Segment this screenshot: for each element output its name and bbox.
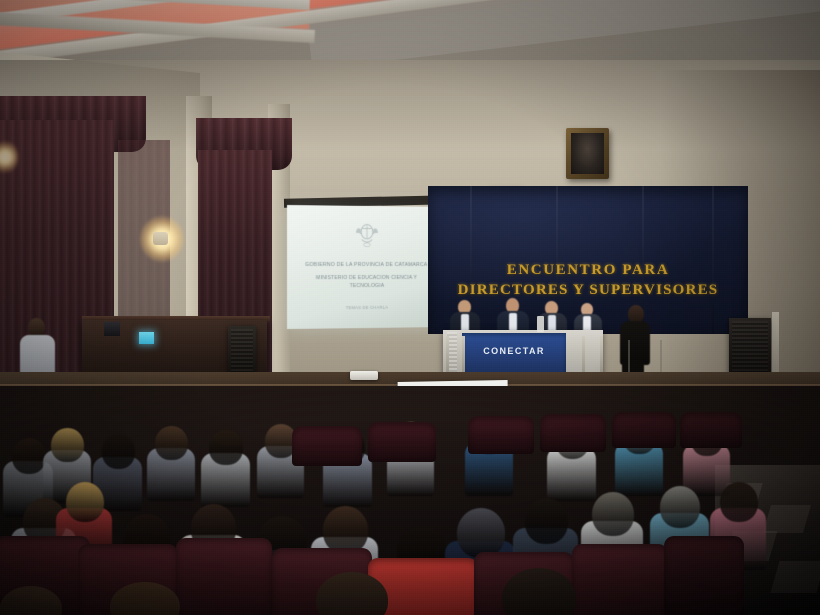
sconce-body xyxy=(153,232,168,245)
audience-person-head xyxy=(155,426,187,460)
audience-person-head xyxy=(66,482,104,522)
audience-person-head xyxy=(102,434,135,469)
seat-near-7 xyxy=(572,544,668,615)
audience-person-head xyxy=(457,508,505,558)
audience-person-head xyxy=(660,486,700,528)
audience-person-head xyxy=(51,428,83,462)
conference-hall-photo: GOBIERNO DE LA PROVINCIA DE CATAMARCA MI… xyxy=(0,0,820,615)
audience-person-head xyxy=(209,430,242,465)
laptop-screen xyxy=(139,332,154,344)
monitor xyxy=(104,322,120,336)
audience-area xyxy=(0,386,820,615)
seat-far-4 xyxy=(540,414,606,452)
audience-person-head xyxy=(12,438,46,474)
conectar-logo-text: CONECTAR xyxy=(462,346,566,356)
banner-line-2: DIRECTORES Y SUPERVISORES xyxy=(428,282,748,299)
audience-person-head xyxy=(323,506,369,554)
audience-person-head xyxy=(592,492,634,536)
seat-near-8 xyxy=(664,536,744,615)
seat-far-2 xyxy=(368,422,436,462)
audience-person-head xyxy=(525,498,569,544)
slide-line-2: MINISTERIO DE EDUCACION CIENCIA Y TECNOL… xyxy=(306,275,426,290)
seat-far-5 xyxy=(612,412,676,448)
projection-screen-surface: GOBIERNO DE LA PROVINCIA DE CATAMARCA MI… xyxy=(287,205,444,329)
wall-portrait-canvas xyxy=(571,133,604,174)
panelist-2-shirt xyxy=(509,313,517,331)
audience-person-head xyxy=(720,482,758,522)
seat-far-3 xyxy=(468,416,534,454)
banner-line-1: ENCUENTRO PARA xyxy=(428,262,748,279)
seat-far-6 xyxy=(680,412,742,448)
slide-line-1: GOBIERNO DE LA PROVINCIA DE CATAMARCA xyxy=(305,262,427,268)
wall-portrait-frame xyxy=(566,128,609,179)
seat-far-1 xyxy=(292,426,362,466)
provincial-coat-of-arms-icon xyxy=(354,220,380,250)
panel-table-banner: CONECTAR xyxy=(462,333,566,375)
projector xyxy=(350,371,378,380)
slide-line-3: TEMAS DE CHARLA xyxy=(287,304,444,310)
seat-near-3 xyxy=(176,538,272,615)
water-bottle xyxy=(537,316,544,332)
projection-screen: GOBIERNO DE LA PROVINCIA DE CATAMARCA MI… xyxy=(288,203,446,328)
